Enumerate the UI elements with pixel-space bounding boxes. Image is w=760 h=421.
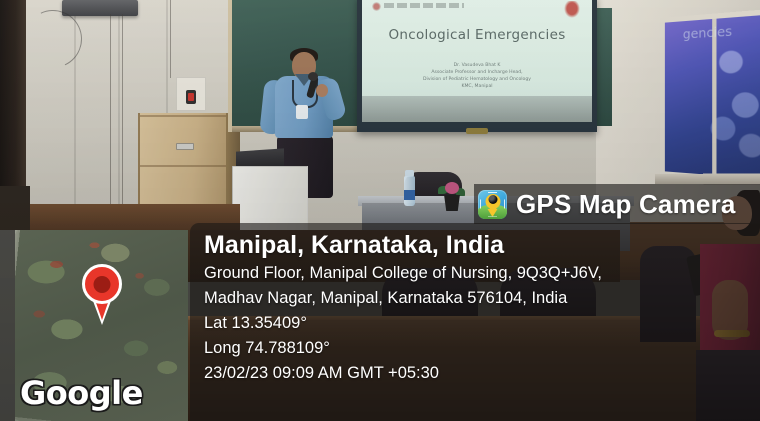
gps-map-camera-brand-bar: GPS Map Camera <box>474 184 760 224</box>
wall-cable <box>110 14 111 210</box>
left-door-panel-lower <box>0 186 30 230</box>
slide-logo-left-icon <box>372 2 381 11</box>
microphone-head <box>308 72 318 81</box>
window-reflection-text: gencies <box>683 24 732 42</box>
wall-seam <box>118 0 120 215</box>
presenter-hand <box>316 84 328 97</box>
location-info-panel: Manipal, Karnataka, India Ground Floor, … <box>190 223 760 421</box>
gps-map-camera-photo: Oncological Emergencies Dr. Vasudeva Bha… <box>0 0 760 421</box>
window: gencies <box>660 9 760 185</box>
projection-screen-foot <box>466 128 488 134</box>
wall-cable <box>170 0 171 78</box>
presenter-id-badge <box>296 105 308 119</box>
pink-flower <box>445 182 459 194</box>
slide-presenter-division: Division of Pediatric Hematology and Onc… <box>362 76 592 83</box>
location-address-line-2: Madhav Nagar, Manipal, Karnataka 576104,… <box>204 286 760 311</box>
location-address-line-1: Ground Floor, Manipal College of Nursing… <box>204 261 760 286</box>
capture-timestamp: 23/02/23 09:09 AM GMT +05:30 <box>204 361 760 386</box>
slide-presenter-name: Dr. Vasudeva Bhat K <box>362 62 592 69</box>
screen-lower-shadow <box>362 96 592 122</box>
wall-switch-indicator <box>186 90 196 104</box>
brand-name-label: GPS Map Camera <box>516 189 736 220</box>
slide-logo-right-icon <box>564 1 580 18</box>
ceiling-speaker <box>62 0 138 16</box>
window-sill <box>655 173 760 184</box>
slide-subtitle: Dr. Vasudeva Bhat K Associate Professor … <box>362 62 592 90</box>
google-watermark: Google <box>20 374 143 412</box>
left-door-panel <box>0 0 26 215</box>
location-latitude: Lat 13.35409° <box>204 311 760 336</box>
wall-cable <box>122 14 123 210</box>
pin-center-dot <box>93 276 110 293</box>
slide-header-text-block <box>384 3 464 8</box>
location-longitude: Long 74.788109° <box>204 336 760 361</box>
map-pin-icon <box>82 264 122 304</box>
cabinet-handle <box>176 143 194 150</box>
slide-presenter-institute: KMC, Manipal <box>362 83 592 90</box>
water-bottle-label <box>404 190 415 200</box>
slide-title: Oncological Emergencies <box>362 27 592 43</box>
viewfinder-bracket-shape <box>480 192 505 217</box>
window-mullion <box>712 19 716 176</box>
gps-map-camera-icon <box>478 190 507 219</box>
slide-presenter-role: Associate Professor and Incharge Head, <box>362 69 592 76</box>
location-title: Manipal, Karnataka, India <box>204 229 760 261</box>
